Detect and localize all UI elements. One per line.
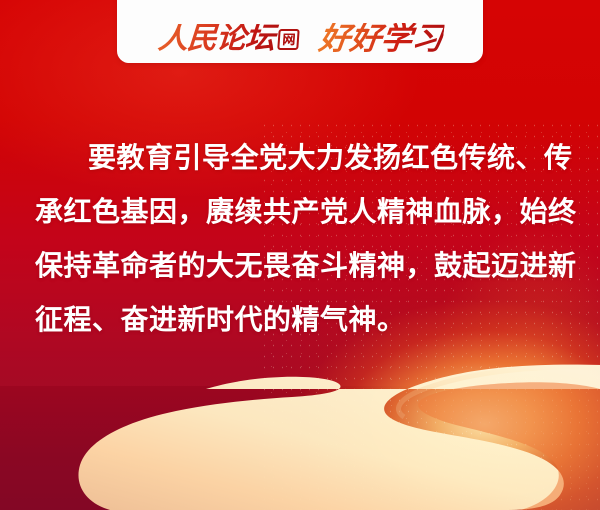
quote-line: 承红色基因，赓续共产党人精神血脉，始终 bbox=[35, 185, 573, 239]
winding-road-graphic bbox=[0, 335, 600, 510]
slogan-text: 好好学习 bbox=[317, 23, 445, 54]
brand-logo-text: 人民论坛 bbox=[156, 24, 274, 54]
logo-row: 人民论坛 网 好好学习 bbox=[158, 23, 443, 54]
quote-line: 要教育引导全党大力发扬红色传统、传 bbox=[35, 131, 573, 185]
quote-line: 征程、奋进新时代的精气神。 bbox=[35, 293, 573, 347]
quote-line: 保持革命者的大无畏奋斗精神，鼓起迈进新 bbox=[35, 239, 573, 293]
poster-canvas: 人民论坛 网 好好学习 要教育引导全党大力发扬红色传统、传 承红色基因，赓续共产… bbox=[0, 0, 600, 510]
quote-block: 要教育引导全党大力发扬红色传统、传 承红色基因，赓续共产党人精神血脉，始终 保持… bbox=[35, 131, 573, 347]
brand-logo: 人民论坛 网 bbox=[156, 24, 299, 54]
logo-panel: 人民论坛 网 好好学习 bbox=[117, 0, 483, 63]
brand-net-badge-icon: 网 bbox=[277, 28, 299, 49]
